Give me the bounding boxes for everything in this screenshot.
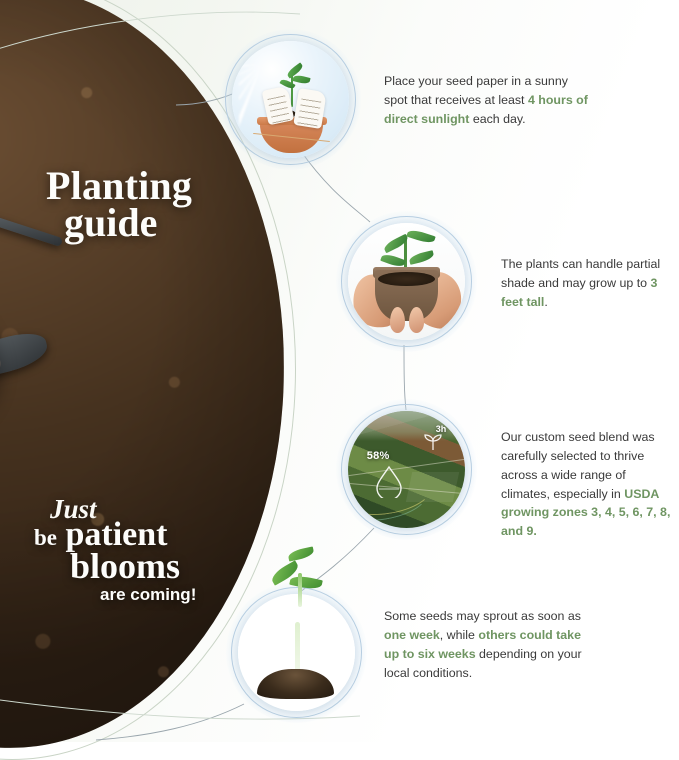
title-line-1: Planting [46, 168, 192, 203]
humidity-value: 58% [367, 450, 390, 462]
overlay-blooms: blooms [70, 549, 254, 583]
step-image-climate: 58% 3h [348, 411, 465, 528]
horizon-haze [348, 411, 465, 441]
sprout-leaf [289, 574, 323, 591]
sprout-leaf [287, 546, 315, 561]
sprout-leaves-overflow [268, 533, 328, 603]
overlay-are-coming: are coming! [100, 586, 254, 603]
hero-overlay-text: Just be patient blooms are coming! [34, 496, 254, 603]
step-text-germination: Some seeds may sprout as soon as one wee… [384, 607, 590, 682]
step-text-climate: Our custom seed blend was carefully sele… [501, 428, 675, 541]
step-image-germination [238, 594, 355, 711]
title-line-2: guide [64, 203, 192, 243]
photo-hands-holding-pot [348, 223, 465, 340]
overlay-be: be [34, 525, 57, 550]
sprout-overlay-icon [421, 432, 445, 452]
photo-sprout-in-soil [238, 594, 355, 711]
finger [409, 307, 424, 333]
infographic-page: Planting guide Just be patient blooms ar… [0, 0, 679, 742]
body-phrase: Some seeds may sprout as soon as [384, 609, 581, 623]
pot-soil [378, 272, 434, 286]
page-title: Planting guide [46, 168, 192, 243]
finger [390, 307, 405, 333]
body-phrase: The plants can handle partial shade and … [501, 257, 660, 290]
sprout-stem [298, 573, 302, 607]
highlight-phrase: one week [384, 628, 440, 642]
step-text-sunlight: Place your seed paper in a sunny spot th… [384, 72, 592, 129]
step-image-shade [348, 223, 465, 340]
photo-seed-paper-pot [232, 41, 349, 158]
body-phrase: each day. [469, 112, 525, 126]
step-text-shade: The plants can handle partial shade and … [501, 255, 667, 312]
body-phrase: , while [440, 628, 479, 642]
hours-value: 3h [436, 424, 447, 434]
step-image-sunlight [232, 41, 349, 158]
body-phrase: . [544, 295, 547, 309]
photo-aerial-farmland: 58% 3h [348, 411, 465, 528]
